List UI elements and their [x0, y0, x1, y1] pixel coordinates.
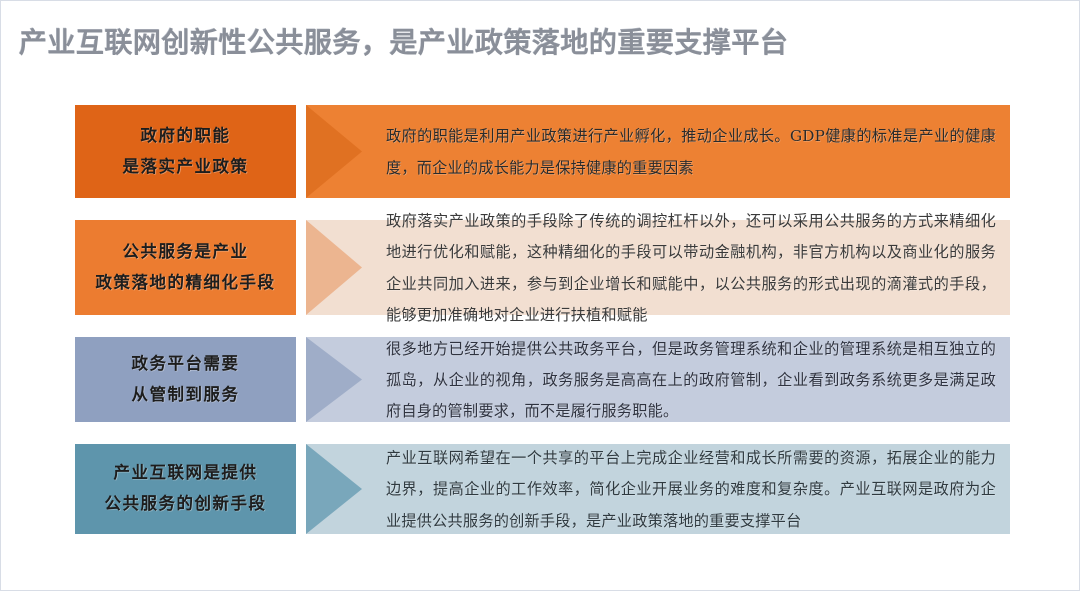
row-body-text: 政府的职能是利用产业政策进行产业孵化，推动企业成长。GDP健康的标准是产业的健康… [386, 121, 996, 183]
row-label-block: 政务平台需要 从管制到服务 [75, 337, 296, 422]
chevron-row: 很多地方已经开始提供公共政务平台，但是政务管理系统和企业的管理系统是相互独立的孤… [75, 337, 1010, 422]
row-body-panel: 政府的职能是利用产业政策进行产业孵化，推动企业成长。GDP健康的标准是产业的健康… [306, 105, 1010, 198]
row-body-panel: 产业互联网希望在一个共享的平台上完成企业经营和成长所需要的资源，拓展企业的能力边… [306, 444, 1010, 534]
slide-canvas: 产业互联网创新性公共服务，是产业政策落地的重要支撑平台 政府的职能是利用产业政策… [0, 0, 1080, 591]
chevron-row-list: 政府的职能是利用产业政策进行产业孵化，推动企业成长。GDP健康的标准是产业的健康… [75, 105, 1010, 534]
row-label-text: 公共服务是产业 政策落地的精细化手段 [96, 237, 276, 298]
row-label-text: 政务平台需要 从管制到服务 [132, 349, 240, 410]
page-title: 产业互联网创新性公共服务，是产业政策落地的重要支撑平台 [19, 21, 789, 61]
row-label-block: 产业互联网是提供 公共服务的创新手段 [75, 444, 296, 534]
row-body-text: 产业互联网希望在一个共享的平台上完成企业经营和成长所需要的资源，拓展企业的能力边… [386, 443, 996, 536]
row-label-block: 政府的职能 是落实产业政策 [75, 105, 296, 198]
row-body-panel: 很多地方已经开始提供公共政务平台，但是政务管理系统和企业的管理系统是相互独立的孤… [306, 337, 1010, 422]
chevron-row: 政府落实产业政策的手段除了传统的调控杠杆以外，还可以采用公共服务的方式来精细化地… [75, 220, 1010, 315]
row-body-panel: 政府落实产业政策的手段除了传统的调控杠杆以外，还可以采用公共服务的方式来精细化地… [306, 220, 1010, 315]
row-label-block: 公共服务是产业 政策落地的精细化手段 [75, 220, 296, 315]
chevron-row: 政府的职能是利用产业政策进行产业孵化，推动企业成长。GDP健康的标准是产业的健康… [75, 105, 1010, 198]
row-body-text: 很多地方已经开始提供公共政务平台，但是政务管理系统和企业的管理系统是相互独立的孤… [386, 334, 996, 427]
chevron-row: 产业互联网希望在一个共享的平台上完成企业经营和成长所需要的资源，拓展企业的能力边… [75, 444, 1010, 534]
row-body-text: 政府落实产业政策的手段除了传统的调控杠杆以外，还可以采用公共服务的方式来精细化地… [386, 206, 996, 331]
row-label-text: 产业互联网是提供 公共服务的创新手段 [105, 458, 267, 519]
row-label-text: 政府的职能 是落实产业政策 [123, 121, 249, 182]
